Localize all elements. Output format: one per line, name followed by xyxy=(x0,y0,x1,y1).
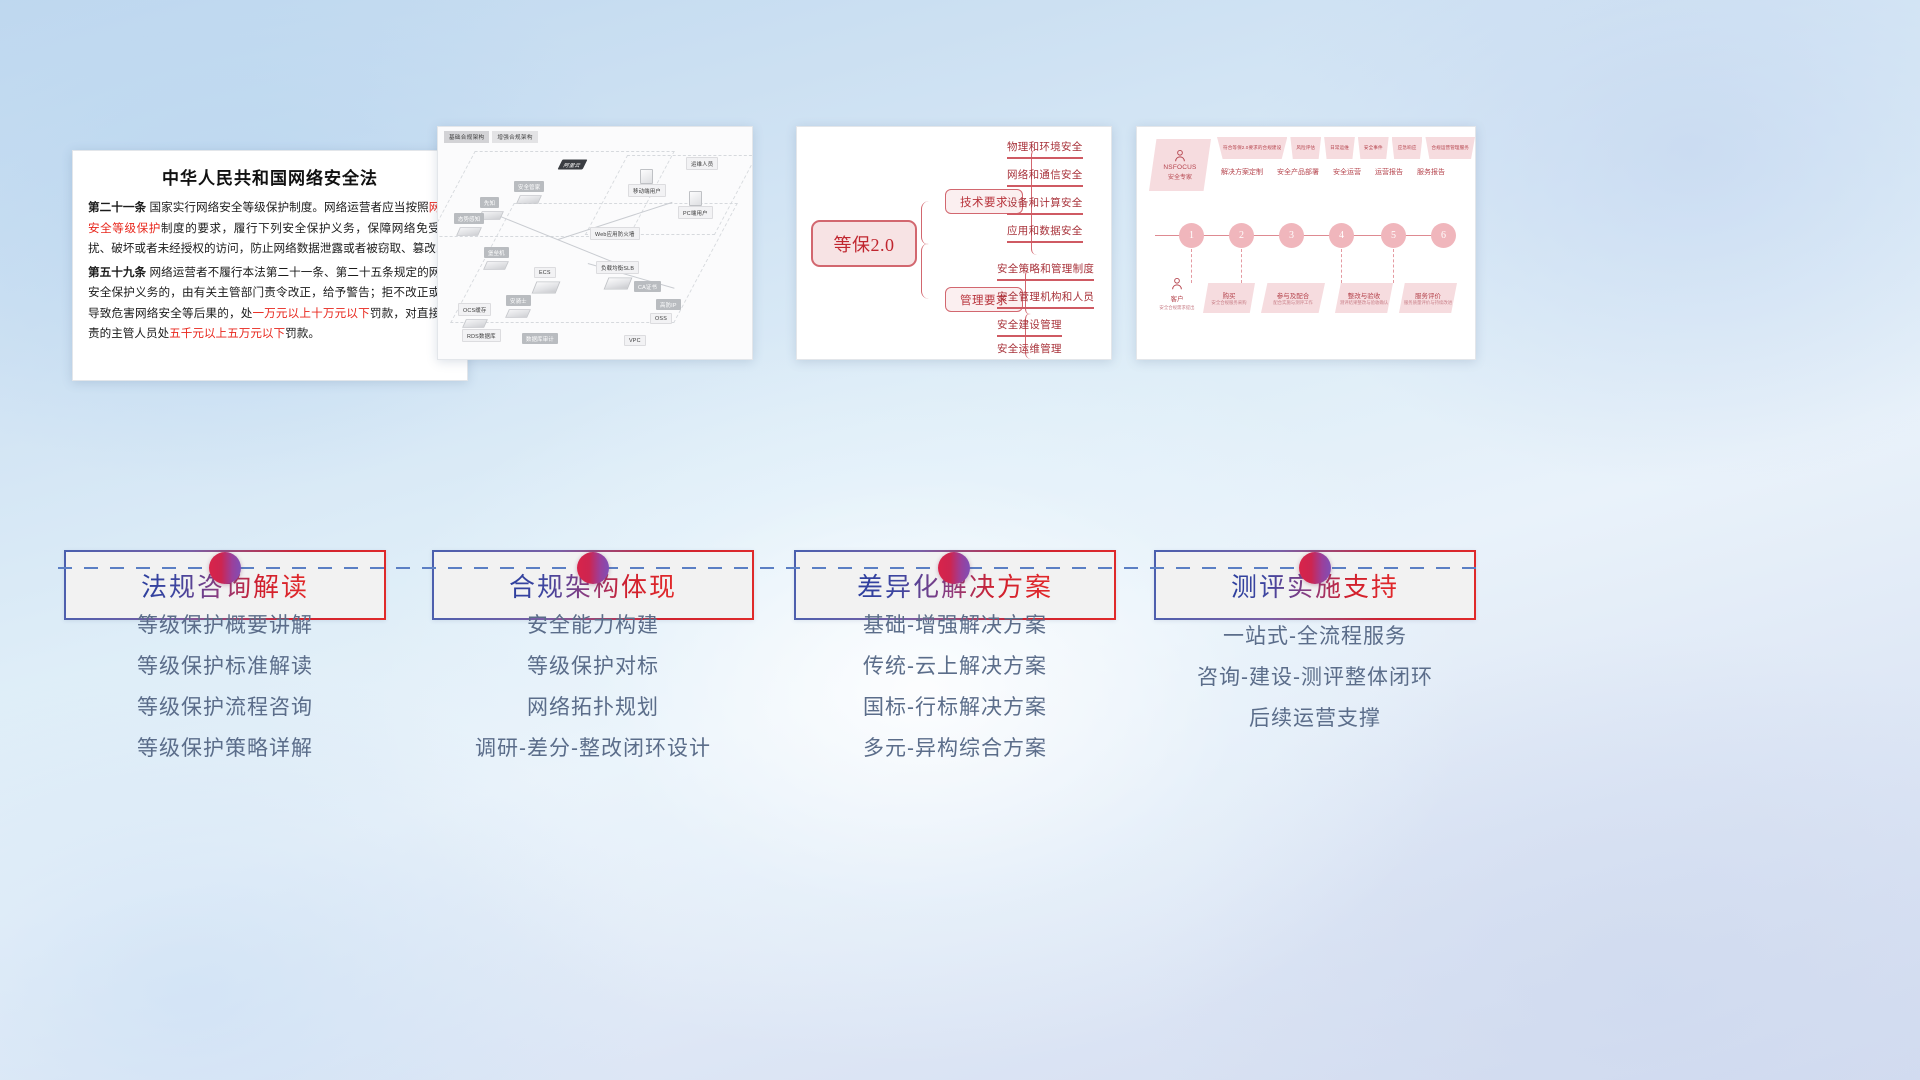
timeline-dot-1 xyxy=(209,552,241,584)
bullet-item: 网络拓扑规划 xyxy=(432,687,754,728)
bullet-list-1: 等级保护概要讲解 等级保护标准解读 等级保护流程咨询 等级保护策略详解 xyxy=(64,605,386,769)
bullet-item: 等级保护标准解读 xyxy=(64,646,386,687)
bullet-list-3: 基础-增强解决方案 传统-云上解决方案 国标-行标解决方案 多元-异构综合方案 xyxy=(794,605,1116,769)
timeline-dot-3 xyxy=(938,552,970,584)
bullet-item: 国标-行标解决方案 xyxy=(794,687,1116,728)
bullet-item: 安全能力构建 xyxy=(432,605,754,646)
bullet-item: 传统-云上解决方案 xyxy=(794,646,1116,687)
dashed-timeline xyxy=(58,567,1488,569)
timeline-dot-4 xyxy=(1299,552,1331,584)
bullet-list-2: 安全能力构建 等级保护对标 网络拓扑规划 调研-差分-整改闭环设计 xyxy=(432,605,754,769)
bullet-item: 等级保护流程咨询 xyxy=(64,687,386,728)
bullet-item: 咨询-建设-测评整体闭环 xyxy=(1154,657,1476,698)
column-title-row: 法规咨询解读 合规架构体现 差异化解决方案 测评实施支持 xyxy=(0,0,1920,1080)
bullet-item: 等级保护策略详解 xyxy=(64,728,386,769)
bullet-item: 基础-增强解决方案 xyxy=(794,605,1116,646)
bullet-item: 多元-异构综合方案 xyxy=(794,728,1116,769)
bullet-item: 调研-差分-整改闭环设计 xyxy=(432,728,754,769)
timeline-dot-2 xyxy=(577,552,609,584)
bullet-item: 等级保护对标 xyxy=(432,646,754,687)
slide-root: 中华人民共和国网络安全法 第二十一条 国家实行网络安全等级保护制度。网络运营者应… xyxy=(0,0,1920,1080)
bullet-item: 一站式-全流程服务 xyxy=(1154,616,1476,657)
bullet-item: 等级保护概要讲解 xyxy=(64,605,386,646)
bullet-list-4: 一站式-全流程服务 咨询-建设-测评整体闭环 后续运营支撑 xyxy=(1154,616,1476,739)
bullet-item: 后续运营支撑 xyxy=(1154,698,1476,739)
